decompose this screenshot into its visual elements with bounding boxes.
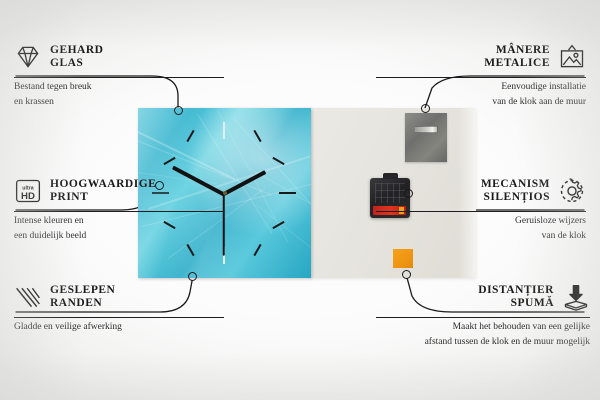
- feature-subtitle-line1: Bestand tegen breuk: [14, 81, 224, 93]
- feature-rule: [376, 211, 586, 212]
- feature-mecanism-silentios: MECANISM SILENȚIOS Geruisloze wijzers va…: [376, 172, 586, 242]
- feature-gehard-glas: GEHARD GLAS Bestand tegen breuk en krass…: [14, 38, 224, 108]
- feature-rule: [376, 317, 590, 318]
- feature-rule: [14, 211, 224, 212]
- feature-rule: [376, 77, 586, 78]
- ultra-hd-icon: ultra HD: [14, 177, 42, 205]
- feature-subtitle-line2: een duidelijk beeld: [14, 230, 224, 242]
- framed-picture-hook-icon: [558, 43, 586, 71]
- feature-subtitle-line2: en krassen: [14, 96, 224, 108]
- tick-12: [223, 122, 225, 139]
- feature-title-line1: GESLEPEN: [50, 284, 115, 297]
- hanger-strip: [414, 126, 438, 133]
- feature-title-line2: SILENȚIOS: [481, 191, 550, 204]
- feature-geslepen-randen: GESLEPEN RANDEN Gladde en veilige afwerk…: [14, 278, 224, 333]
- feature-title-line1: GEHARD: [50, 44, 103, 57]
- feature-title-line2: SPUMĂ: [478, 297, 554, 310]
- feature-subtitle-line1: Maakt het behouden van een gelijke: [376, 321, 590, 333]
- infographic-canvas: GEHARD GLAS Bestand tegen breuk en krass…: [0, 0, 600, 400]
- arrow-down-pad-icon: [562, 283, 590, 311]
- feature-manere-metalice: MÂNERE METALICE Eenvoudige installatie v…: [376, 38, 586, 108]
- feature-rule: [14, 77, 224, 78]
- feature-subtitle-line1: Eenvoudige installatie: [376, 81, 586, 93]
- feature-subtitle-line1: Gladde en veilige afwerking: [14, 321, 224, 333]
- feature-subtitle-line2: afstand tussen de klok en de muur mogeli…: [376, 336, 590, 348]
- feature-rule: [14, 317, 224, 318]
- feature-hoogwaardige-print: ultra HD HOOGWAARDIGE PRINT Intense kleu…: [14, 172, 224, 242]
- feature-subtitle-line1: Intense kleuren en: [14, 215, 224, 227]
- feature-title-line2: GLAS: [50, 57, 103, 70]
- feature-title-line1: MECANISM: [481, 178, 550, 191]
- svg-text:HD: HD: [21, 191, 35, 202]
- diagonal-lines-icon: [14, 283, 42, 311]
- feature-title-line1: MÂNERE: [484, 44, 550, 57]
- tick-3: [279, 192, 296, 194]
- feature-subtitle-line2: van de klok aan de muur: [376, 96, 586, 108]
- feature-subtitle-line2: van de klok: [376, 230, 586, 242]
- orange-foam-spacer: [393, 249, 413, 268]
- gear-icon: [558, 177, 586, 205]
- feature-subtitle-line1: Geruisloze wijzers: [376, 215, 586, 227]
- feature-title-line2: RANDEN: [50, 297, 115, 310]
- feature-title-line1: DISTANȚIER: [478, 284, 554, 297]
- metal-hanger-plate: [405, 113, 447, 162]
- feature-distantier-spuma: DISTANȚIER SPUMĂ Maakt het behouden van …: [376, 278, 590, 348]
- diamond-icon: [14, 43, 42, 71]
- feature-title-line2: METALICE: [484, 57, 550, 70]
- feature-title-line1: HOOGWAARDIGE: [50, 178, 156, 191]
- feature-title-line2: PRINT: [50, 191, 156, 204]
